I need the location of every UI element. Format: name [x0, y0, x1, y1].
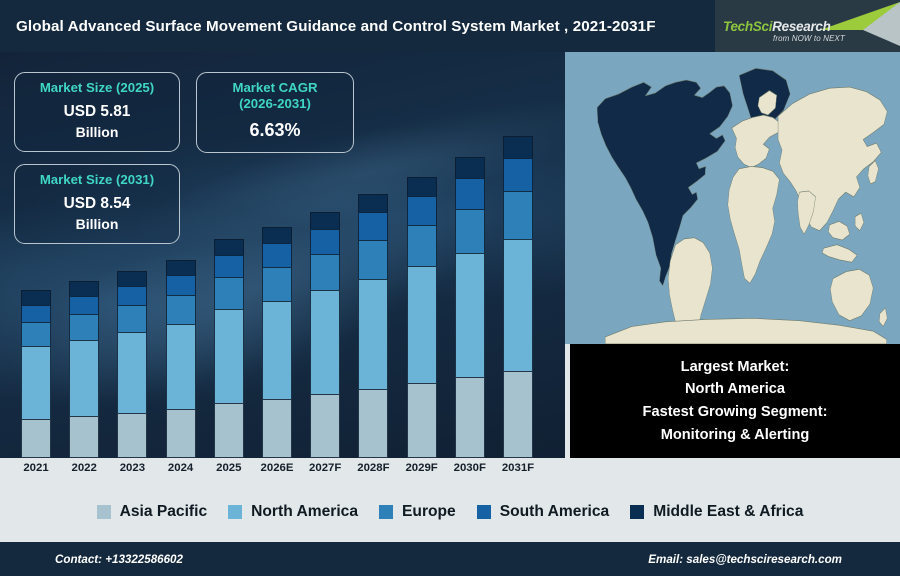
x-axis-label-2024: 2024	[154, 462, 208, 474]
map-region-new-zealand	[879, 308, 887, 327]
callout-box: Largest Market: North America Fastest Gr…	[570, 344, 900, 458]
legend-swatch-europe	[379, 505, 393, 519]
world-map-svg	[565, 52, 900, 344]
callout-line-2: North America	[685, 378, 785, 401]
bar-segment-north-america	[69, 340, 99, 416]
bar-segment-europe	[21, 322, 51, 346]
x-axis-label-2029F: 2029F	[395, 462, 449, 474]
bar-2026E	[262, 227, 292, 458]
map-region-asia	[778, 87, 887, 231]
bar-segment-north-america	[358, 279, 388, 389]
bar-segment-asia-pacific	[262, 399, 292, 458]
x-axis-label-2030F: 2030F	[443, 462, 497, 474]
bar-segment-europe	[69, 314, 99, 340]
logo-wordmark: TechSciResearch	[723, 19, 831, 34]
bar-2021	[21, 290, 51, 458]
legend-label-north-america: North America	[251, 503, 358, 521]
bar-segment-middle-east-africa	[214, 239, 244, 255]
bar-segment-asia-pacific	[21, 419, 51, 458]
bar-segment-asia-pacific	[117, 413, 147, 458]
bar-segment-asia-pacific	[166, 409, 196, 458]
bar-segment-south-america	[262, 243, 292, 267]
email-text: Email: sales@techsciresearch.com	[648, 553, 842, 566]
bar-segment-middle-east-africa	[455, 157, 485, 178]
bar-segment-south-america	[166, 275, 196, 295]
map-region-north-america	[597, 80, 732, 286]
bar-2031F	[503, 136, 533, 458]
logo-tagline: from NOW to NEXT	[773, 34, 845, 43]
bar-segment-north-america	[310, 290, 340, 394]
legend-label-middle-east-africa: Middle East & Africa	[653, 503, 803, 521]
map-region-europe	[732, 115, 781, 168]
callout-line-4: Monitoring & Alerting	[661, 424, 810, 447]
bar-segment-south-america	[69, 296, 99, 314]
x-axis-label-2026E: 2026E	[250, 462, 304, 474]
callout-line-1: Largest Market:	[681, 356, 790, 379]
bar-segment-asia-pacific	[69, 416, 99, 458]
stacked-bar-plot	[0, 52, 565, 458]
bar-2028F	[358, 194, 388, 458]
bar-2024	[166, 260, 196, 458]
footer-bar: Contact: +13322586602 Email: sales@techs…	[0, 542, 900, 576]
bar-segment-middle-east-africa	[503, 136, 533, 158]
bar-segment-middle-east-africa	[407, 177, 437, 196]
bar-segment-europe	[117, 305, 147, 332]
legend-swatch-south-america	[477, 505, 491, 519]
bar-2022	[69, 281, 99, 458]
legend-item-europe[interactable]: Europe	[379, 503, 456, 521]
legend-label-asia-pacific: Asia Pacific	[120, 503, 208, 521]
bar-2023	[117, 271, 147, 458]
legend-label-europe: Europe	[402, 503, 456, 521]
map-region-antarctica	[605, 318, 886, 344]
bar-segment-middle-east-africa	[69, 281, 99, 296]
bar-segment-north-america	[21, 346, 51, 419]
legend-item-south-america[interactable]: South America	[477, 503, 609, 521]
bar-segment-europe	[407, 225, 437, 267]
bar-segment-asia-pacific	[407, 383, 437, 458]
x-axis-label-2031F: 2031F	[491, 462, 545, 474]
legend-item-middle-east-africa[interactable]: Middle East & Africa	[630, 503, 803, 521]
bar-segment-south-america	[310, 229, 340, 254]
x-axis-label-2021: 2021	[9, 462, 63, 474]
bar-segment-middle-east-africa	[262, 227, 292, 243]
bar-2027F	[310, 212, 340, 458]
bar-segment-middle-east-africa	[358, 194, 388, 212]
bar-segment-south-america	[358, 212, 388, 239]
bar-segment-south-america	[407, 196, 437, 225]
bar-2030F	[455, 157, 485, 458]
legend-swatch-asia-pacific	[97, 505, 111, 519]
bar-segment-europe	[262, 267, 292, 301]
bar-segment-asia-pacific	[358, 389, 388, 458]
bar-segment-north-america	[214, 309, 244, 403]
logo-research-text: Research	[772, 19, 830, 34]
header-bar: Global Advanced Surface Movement Guidanc…	[0, 0, 900, 52]
bar-segment-middle-east-africa	[310, 212, 340, 229]
bar-segment-middle-east-africa	[21, 290, 51, 305]
x-axis-label-2023: 2023	[105, 462, 159, 474]
map-region-indonesia	[822, 245, 857, 263]
legend-swatch-north-america	[228, 505, 242, 519]
bar-segment-asia-pacific	[310, 394, 340, 458]
bar-segment-south-america	[455, 178, 485, 209]
bar-segment-europe	[214, 277, 244, 309]
map-region-australia	[830, 269, 873, 320]
bar-segment-south-america	[117, 286, 147, 305]
x-axis-label-2022: 2022	[57, 462, 111, 474]
chart-panel: Market Size (2025) USD 5.81 Billion Mark…	[0, 52, 565, 458]
map-region-philippines	[855, 213, 864, 231]
bar-segment-europe	[358, 240, 388, 279]
world-map	[565, 52, 900, 344]
bar-2029F	[407, 177, 437, 458]
bar-segment-middle-east-africa	[166, 260, 196, 275]
legend-item-north-america[interactable]: North America	[228, 503, 358, 521]
legend-swatch-middle-east-africa	[630, 505, 644, 519]
x-axis-label-2028F: 2028F	[346, 462, 400, 474]
bar-segment-asia-pacific	[214, 403, 244, 458]
bar-segment-north-america	[455, 253, 485, 377]
bar-segment-north-america	[117, 332, 147, 413]
chart-legend: Asia PacificNorth AmericaEuropeSouth Ame…	[0, 482, 900, 542]
contact-text: Contact: +13322586602	[55, 553, 183, 566]
legend-label-south-america: South America	[500, 503, 609, 521]
callout-line-3: Fastest Growing Segment:	[643, 401, 828, 424]
bar-segment-asia-pacific	[455, 377, 485, 458]
x-axis-label-2025: 2025	[202, 462, 256, 474]
map-region-southeast-asia	[828, 221, 849, 240]
bar-segment-south-america	[503, 158, 533, 191]
page-title: Global Advanced Surface Movement Guidanc…	[16, 18, 656, 35]
bar-segment-south-america	[21, 305, 51, 322]
infographic-root: Global Advanced Surface Movement Guidanc…	[0, 0, 900, 576]
map-region-africa	[728, 166, 780, 283]
bar-segment-europe	[310, 254, 340, 290]
x-axis-label-2027F: 2027F	[298, 462, 352, 474]
legend-item-asia-pacific[interactable]: Asia Pacific	[97, 503, 208, 521]
bar-segment-europe	[455, 209, 485, 254]
bar-segment-europe	[503, 191, 533, 239]
bar-2025	[214, 239, 244, 458]
bar-segment-asia-pacific	[503, 371, 533, 458]
bar-segment-north-america	[407, 266, 437, 383]
x-axis: 202120222023202420252026E2027F2028F2029F…	[0, 458, 565, 482]
bar-segment-north-america	[262, 301, 292, 399]
logo-techsci-text: TechSci	[723, 19, 772, 34]
techsci-logo: TechSciResearch from NOW to NEXT	[715, 0, 900, 52]
bar-segment-south-america	[214, 255, 244, 278]
bar-segment-europe	[166, 295, 196, 324]
bar-segment-north-america	[503, 239, 533, 371]
bar-segment-middle-east-africa	[117, 271, 147, 286]
bar-segment-north-america	[166, 324, 196, 409]
